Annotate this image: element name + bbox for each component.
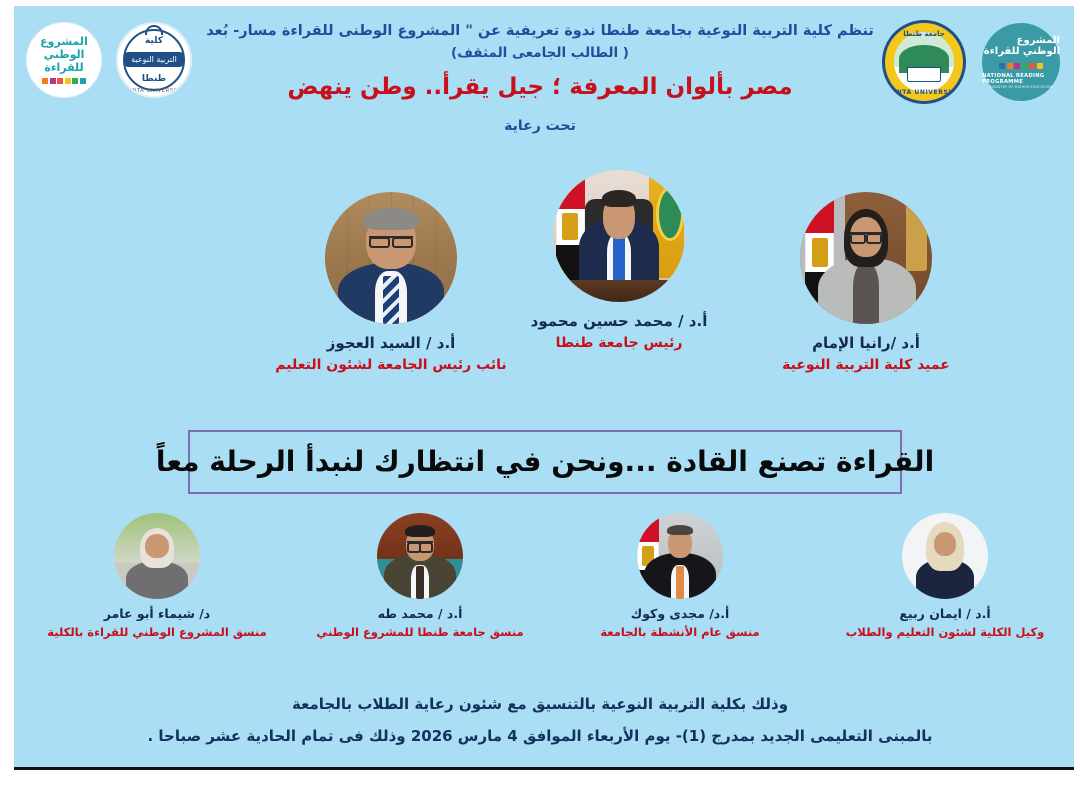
page-margin-left [0,0,14,785]
organizer-role-0: منسق المشروع الوطني للقراءة بالكلية [22,625,292,641]
header-line-2: ( الطالب الجامعى المثقف) [180,42,900,64]
portrait-mohamed-taha [377,513,463,599]
organizer-role-2: منسق عام الأنشطة بالجامعة [545,625,815,641]
organizer-role-3: وكيل الكلية لشئون التعليم والطلاب [810,625,1080,641]
desk [553,280,685,302]
organizer-role-1: منسق جامعة طنطا للمشروع الوطني [285,625,555,641]
avatar [377,513,463,599]
patron-role-2: عميد كلية التربية النوعية [716,356,1016,375]
organizer-card-1: أ.د / محمد طه منسق جامعة طنطا للمشروع ال… [285,513,555,640]
reading-logo-line-3: للقراءة [44,62,83,74]
organizer-name-0: د/ شيماء أبو عامر [22,606,292,623]
organizer-name-3: أ.د / ايمان ربيع [810,606,1080,623]
avatar [902,513,988,599]
footer-line-1: وذلك بكلية التربية النوعية بالتنسيق مع ش… [90,688,990,720]
logo-group-right: المشروع الوطني للقراءة NATIONAL READING … [882,20,1060,104]
faculty-seal-band-text: التربية النوعية [125,52,183,67]
organizer-card-0: د/ شيماء أبو عامر منسق المشروع الوطني لل… [22,513,292,640]
portrait-magdy-wakouk [637,513,723,599]
avatar [325,192,457,324]
reading-logo-swatches [42,78,86,84]
nrp-badge-english-sub: MINISTRY OF HIGHER EDUCATION [990,85,1053,89]
reading-logo-line-1: المشروع [40,36,88,48]
headline-block: تنظم كلية التربية النوعية بجامعة طنطا ند… [180,20,900,134]
organizer-card-3: أ.د / ايمان ربيع وكيل الكلية لشئون التعل… [810,513,1080,640]
reading-logo-line-2: الوطني [44,49,85,61]
organizer-name-1: أ.د / محمد طه [285,606,555,623]
page-margin-bottom [0,770,1080,785]
open-book-icon [907,67,941,82]
national-reading-programme-badge: المشروع الوطني للقراءة NATIONAL READING … [982,23,1060,101]
avatar [637,513,723,599]
national-reading-project-logo: المشروع الوطني للقراءة [26,22,102,98]
header-line-1: تنظم كلية التربية النوعية بجامعة طنطا ند… [180,20,900,42]
organizer-name-2: أ.د/ مجدى وكوك [545,606,815,623]
page-margin-right [1074,0,1080,785]
avatar [553,170,685,302]
event-poster: كلية التربية النوعية طنطا TANTA UNIVERSI… [0,0,1080,785]
under-patronage-label: تحت رعاية [180,118,900,134]
avatar [114,513,200,599]
footer-line-2: بالمبنى التعليمى الجديد بمدرج (1)- يوم ا… [90,720,990,752]
portrait-mohamed-hussein-mahmoud [553,170,685,302]
organizer-card-2: أ.د/ مجدى وكوك منسق عام الأنشطة بالجامعة [545,513,815,640]
nrp-badge-arabic: المشروع الوطني للقراءة [982,35,1060,57]
footer-block: وذلك بكلية التربية النوعية بالتنسيق مع ش… [90,688,990,752]
framed-slogan-text: القراءة تصنع القادة ...ونحن في انتظارك ل… [156,447,934,478]
nrp-badge-swatches [999,63,1043,69]
portrait-eman-rabie [902,513,988,599]
seal-inner [894,32,954,92]
red-slogan: مصر بألوان المعرفة ؛ جيل يقرأ.. وطن ينهض [180,70,900,104]
patron-card-2: أ.د /رانيا الإمام عميد كلية التربية النو… [716,192,1016,375]
portrait-shaimaa-abouamer [114,513,200,599]
avatar [800,192,932,324]
patron-name-2: أ.د /رانيا الإمام [716,333,1016,353]
patron-role-0: نائب رئيس الجامعة لشئون التعليم [241,356,541,375]
nrp-badge-english: NATIONAL READING PROGRAMME [982,73,1060,85]
portrait-rania-elimam [800,192,932,324]
portrait-elsayed-elagouz [325,192,457,324]
framed-slogan-box: القراءة تصنع القادة ...ونحن في انتظارك ل… [188,430,902,494]
logo-group-left: كلية التربية النوعية طنطا TANTA UNIVERSI… [26,22,192,98]
page-margin-top [0,0,1080,6]
